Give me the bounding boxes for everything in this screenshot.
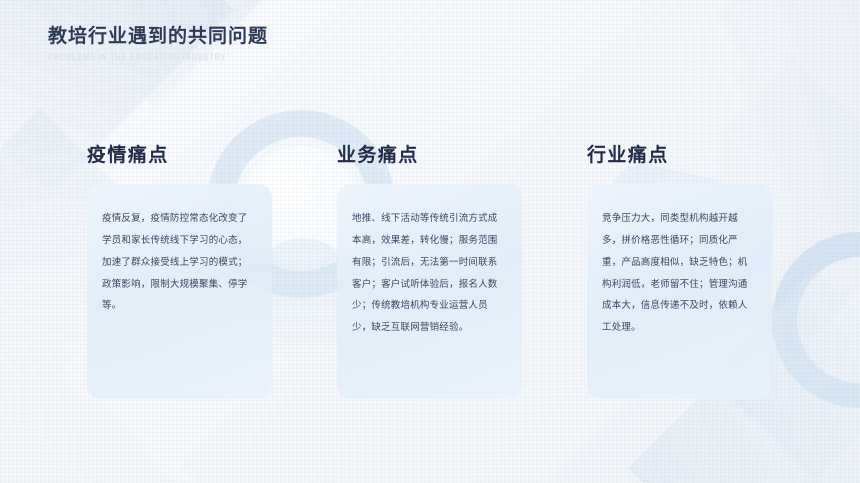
card-list: 疫情痛点 疫情反复，疫情防控常态化改变了学员和家长传统线下学习的心态，加速了群众…	[0, 0, 860, 483]
card-body-box: 地推、线下活动等传统引流方式成本高，效果差，转化慢；服务范围有限；引流后，无法第…	[337, 184, 522, 399]
slide-canvas: 教培行业遇到的共同问题 PROBLEMS IN THE EDUCATION IN…	[0, 0, 860, 483]
card-body-box: 疫情反复，疫情防控常态化改变了学员和家长传统线下学习的心态，加速了群众接受线上学…	[87, 184, 272, 399]
card-body-text: 疫情反复，疫情防控常态化改变了学员和家长传统线下学习的心态，加速了群众接受线上学…	[102, 208, 257, 317]
card-body-text: 竞争压力大，同类型机构越开越多，拼价格恶性循环；同质化严重，产品高度相似，缺乏特…	[602, 208, 757, 339]
card-business-pain-points: 业务痛点 地推、线下活动等传统引流方式成本高，效果差，转化慢；服务范围有限；引流…	[337, 146, 522, 399]
card-pandemic-pain-points: 疫情痛点 疫情反复，疫情防控常态化改变了学员和家长传统线下学习的心态，加速了群众…	[87, 146, 272, 399]
card-industry-pain-points: 行业痛点 竞争压力大，同类型机构越开越多，拼价格恶性循环；同质化严重，产品高度相…	[587, 146, 772, 399]
card-body-box: 竞争压力大，同类型机构越开越多，拼价格恶性循环；同质化严重，产品高度相似，缺乏特…	[587, 184, 772, 399]
card-title: 行业痛点	[587, 146, 772, 165]
card-title: 业务痛点	[337, 146, 522, 165]
card-body-text: 地推、线下活动等传统引流方式成本高，效果差，转化慢；服务范围有限；引流后，无法第…	[352, 208, 507, 339]
card-title: 疫情痛点	[87, 146, 272, 165]
